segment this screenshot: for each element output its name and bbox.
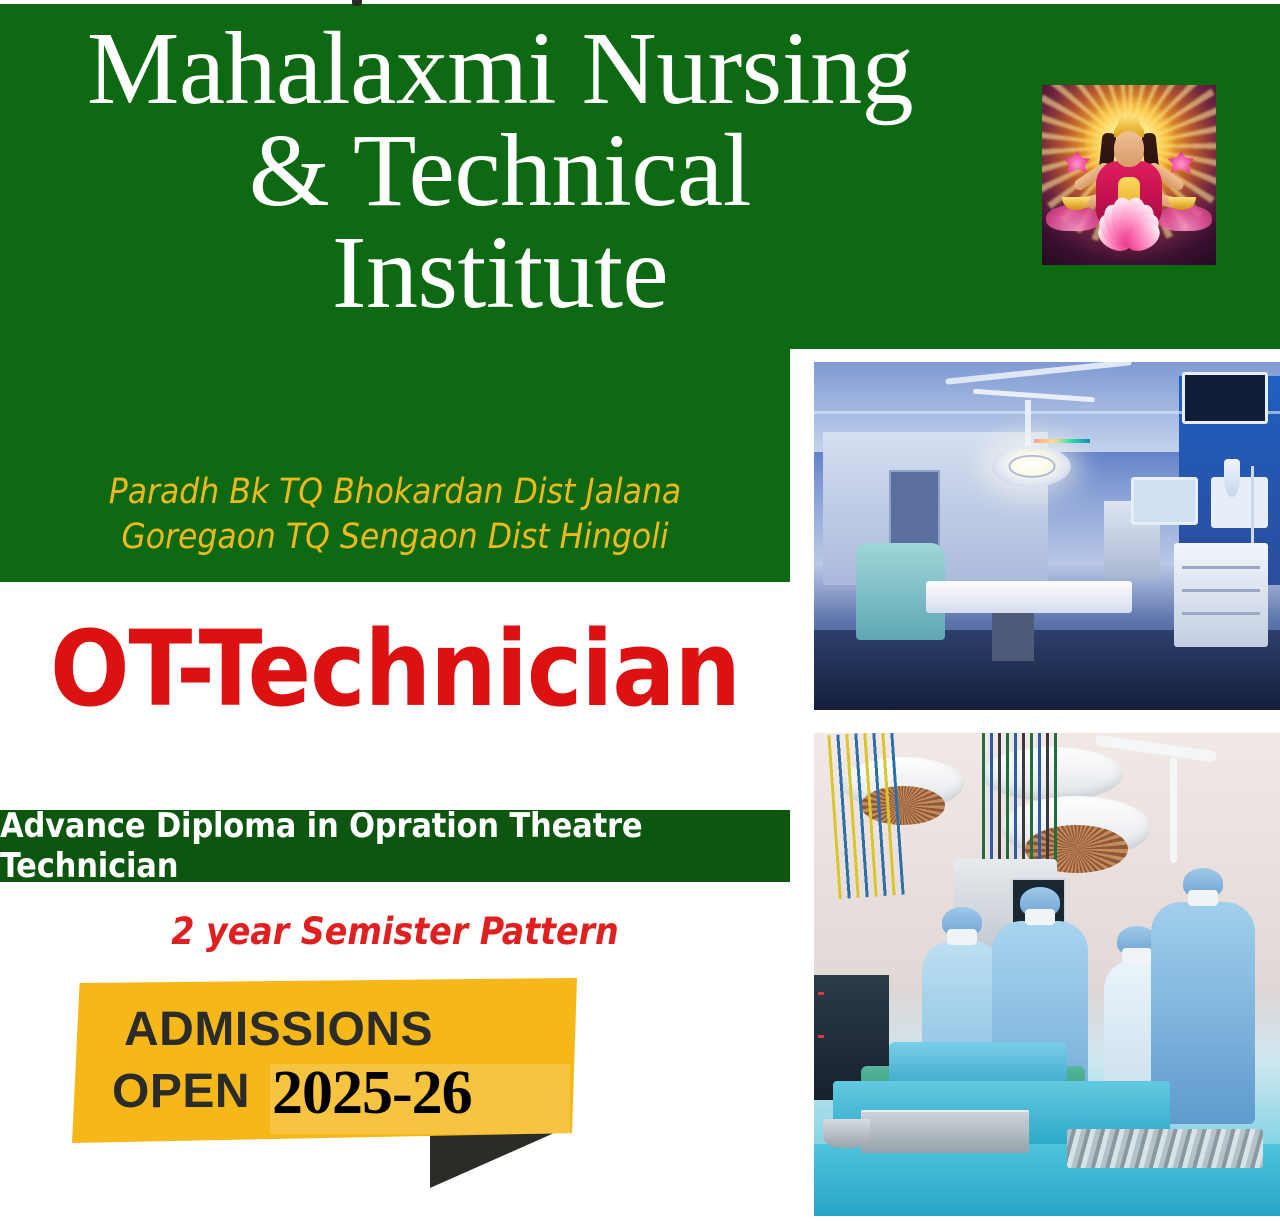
ot-operating-table-base bbox=[992, 613, 1034, 662]
top-edge-artifact bbox=[352, 0, 362, 6]
photo-frame-inner bbox=[814, 362, 1280, 710]
surgery-lamp-column bbox=[1170, 757, 1177, 863]
surgery-cable-bundle bbox=[827, 733, 904, 899]
admissions-banner: ADMISSIONS OPEN 2025-26 bbox=[72, 978, 577, 1193]
institute-name-line2: & Technical bbox=[0, 120, 1000, 222]
surgery-instruments bbox=[1067, 1129, 1264, 1168]
ot-wall-monitor bbox=[1131, 477, 1198, 525]
surgical-mask bbox=[1025, 909, 1055, 925]
ot-surgical-lamp bbox=[992, 446, 1072, 488]
surgery-cart-indicator bbox=[818, 992, 824, 995]
ot-room-scene bbox=[814, 362, 1280, 710]
surgery-blue-drape bbox=[889, 1042, 1067, 1085]
address-line2: Goregaon TQ Sengaon Dist Hingoli bbox=[0, 515, 790, 560]
logo-deity-head bbox=[1114, 131, 1144, 167]
institute-name-line1: Mahalaxmi Nursing bbox=[0, 18, 1000, 120]
goddess-lakshmi-logo bbox=[1042, 85, 1216, 265]
ot-surgical-lamp-ring bbox=[1008, 455, 1055, 477]
ot-iv-bag bbox=[1224, 459, 1240, 497]
course-title: OT-Technician bbox=[0, 617, 790, 721]
admissions-year: 2025-26 bbox=[272, 1058, 472, 1129]
surgical-mask bbox=[1188, 890, 1218, 906]
operating-theatre-room-photo bbox=[808, 356, 1280, 716]
surgical-mask bbox=[947, 929, 977, 945]
surgery-instrument-tray bbox=[861, 1110, 1029, 1153]
ot-lamp-stem bbox=[1025, 400, 1031, 449]
surgery-scene bbox=[814, 733, 1280, 1216]
ot-cart-drawer bbox=[1182, 612, 1261, 615]
ot-ceiling-monitor bbox=[1182, 372, 1268, 423]
admissions-status: OPEN bbox=[112, 1064, 250, 1119]
ot-operating-table bbox=[926, 581, 1132, 612]
institute-address: Paradh Bk TQ Bhokardan Dist Jalana Goreg… bbox=[0, 470, 790, 560]
surgery-cart-indicator bbox=[818, 1035, 824, 1038]
course-subtitle: Advance Diploma in Opration Theatre Tech… bbox=[0, 806, 790, 886]
photo-frame-inner bbox=[814, 733, 1280, 1216]
course-subtitle-bar: Advance Diploma in Opration Theatre Tech… bbox=[0, 810, 790, 882]
ot-lamp-color-indicator bbox=[1034, 439, 1090, 443]
surgical-team-operating-photo bbox=[808, 727, 1280, 1222]
course-pattern: 2 year Semister Pattern bbox=[0, 910, 790, 953]
address-line1: Paradh Bk TQ Bhokardan Dist Jalana bbox=[0, 470, 790, 515]
ot-cart-drawer bbox=[1182, 566, 1261, 569]
surgery-steel-bowl bbox=[823, 1119, 870, 1148]
surgical-mask bbox=[1122, 948, 1152, 964]
institute-name: Mahalaxmi Nursing & Technical Institute bbox=[0, 18, 1000, 324]
ot-cart-drawer bbox=[1182, 589, 1261, 592]
ot-anesthesia-cart bbox=[1174, 543, 1268, 647]
admissions-heading: ADMISSIONS bbox=[124, 1002, 433, 1057]
institute-name-line3: Institute bbox=[0, 222, 1000, 324]
